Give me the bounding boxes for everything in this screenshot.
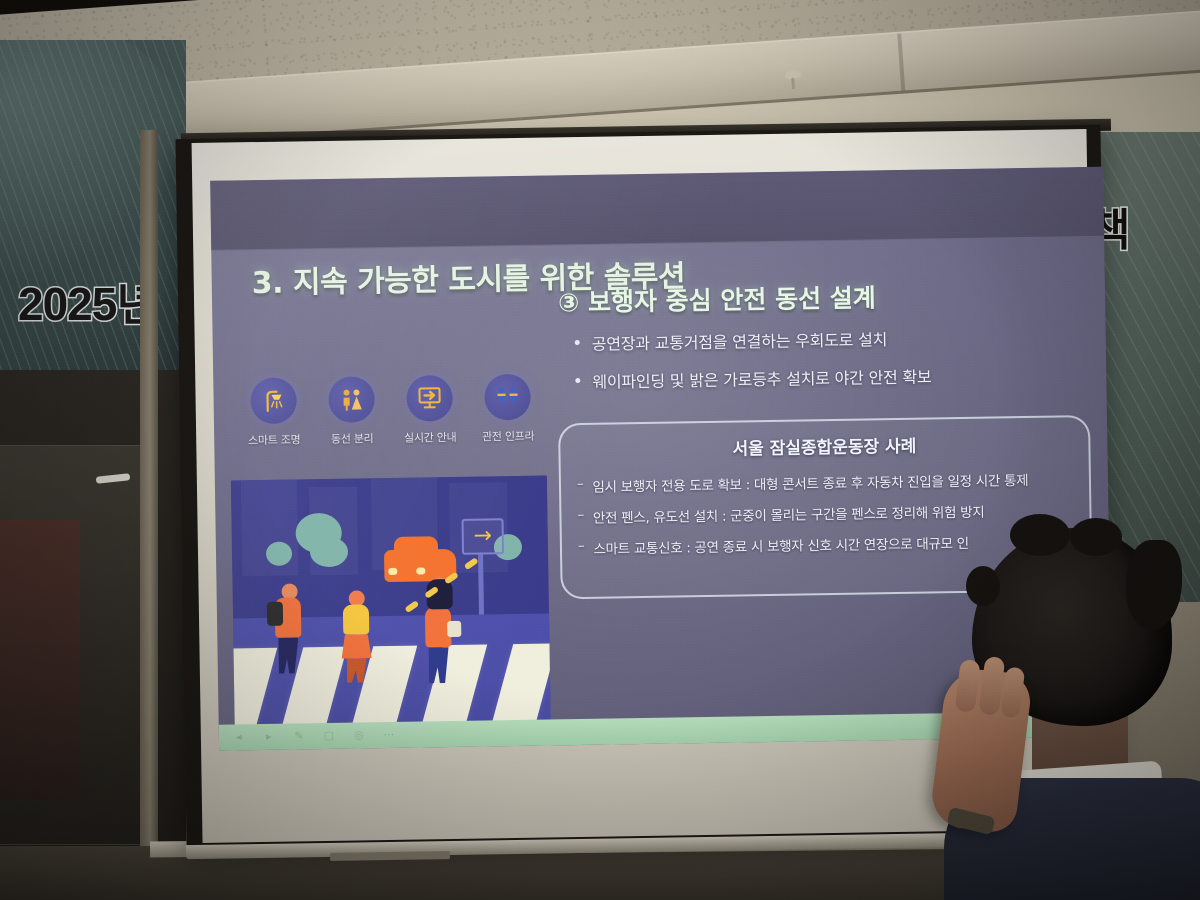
bullet-dot-icon (575, 340, 580, 345)
bullet-item: 웨이파인딩 및 밝은 가로등추 설치로 야간 안전 확보 (575, 361, 1095, 393)
glass-poster-reflection (0, 520, 80, 800)
bullet-text: 공연장과 교통거점을 연결하는 우회도로 설치 (592, 326, 888, 355)
spectator-infrastructure-icon (484, 374, 531, 421)
sign-arrow-glyph: → (473, 525, 492, 547)
arrow-sign-icon: → (461, 518, 504, 555)
bullet-item: 공연장과 교통거점을 연결하는 우회도로 설치 (575, 323, 1095, 355)
icon-cell-spectator-infra[interactable]: 관전 인프라 (475, 374, 540, 445)
camera-button[interactable]: ▢ (321, 727, 337, 743)
next-slide-button[interactable]: ▸ (261, 728, 277, 744)
zoom-button[interactable]: ◎ (351, 726, 367, 742)
window-mullion (140, 130, 158, 900)
hair-tuft (1010, 514, 1070, 556)
dash-marker: – (577, 476, 584, 496)
icon-label: 동선 분리 (320, 430, 384, 447)
icon-cell-smart-lighting[interactable]: 스마트 조명 (241, 377, 306, 448)
slide-sub-heading: ③ 보행자 중심 안전 동선 설계 (558, 278, 876, 319)
two-people-icon (328, 376, 375, 423)
streetlight-icon (250, 377, 297, 424)
dash-marker: – (578, 538, 585, 558)
icon-label: 실시간 안내 (398, 429, 462, 446)
dash-marker: – (577, 507, 584, 527)
arrow-sign-screen-icon (406, 375, 453, 422)
audience-member (940, 520, 1200, 900)
bullet-list: 공연장과 교통거점을 연결하는 우회도로 설치 웨이파인딩 및 밝은 가로등추 … (575, 323, 1096, 407)
pen-annotation-button[interactable]: ✎ (291, 727, 307, 743)
bullet-text: 웨이파인딩 및 밝은 가로등추 설치로 야간 안전 확보 (592, 363, 931, 392)
pedestrian-icon (343, 590, 372, 682)
icon-label: 관전 인프라 (476, 428, 540, 445)
icon-cell-realtime-guidance[interactable]: 실시간 안내 (397, 375, 462, 446)
banner-year-text: 2025년 (18, 268, 158, 334)
hair-tuft (966, 566, 1000, 606)
bullet-dot-icon (575, 378, 580, 383)
hair-tuft (1070, 518, 1122, 556)
previous-slide-button[interactable]: ◂ (231, 728, 247, 744)
case-item-text: 임시 보행자 전용 도로 확보 : 대형 콘서트 종료 후 자동차 진입을 일정… (592, 469, 1028, 496)
icon-cell-flow-separation[interactable]: 동선 분리 (319, 376, 384, 447)
valance-seam (897, 34, 905, 91)
night-crosswalk-illustration: → (231, 476, 551, 739)
feature-icon-row: 스마트 조명 동선 분리 (241, 374, 540, 449)
case-study-title: 서울 잠실종합운동장 사례 (560, 429, 1088, 462)
case-item-text: 안전 펜스, 유도선 설치 : 군중이 몰리는 구간을 펜스로 정리해 위험 방… (593, 501, 985, 527)
icon-label: 스마트 조명 (242, 431, 306, 448)
guide-line-dashes (396, 560, 487, 617)
slide-title-band (210, 167, 1104, 251)
photo-scene: 2025년 책 3. 지속 가능한 도시를 위한 솔루션 (0, 0, 1200, 900)
pedestrian-icon (274, 583, 301, 673)
presenter-toolbar[interactable]: ◂ ▸ ✎ ▢ ◎ ⋯ (231, 726, 397, 745)
case-item-text: 스마트 교통신호 : 공연 종료 시 보행자 신호 시간 연장으로 대규모 인 (593, 532, 969, 558)
more-options-button[interactable]: ⋯ (381, 726, 397, 742)
hair-tuft (1126, 540, 1182, 630)
case-study-item: – 임시 보행자 전용 도로 확보 : 대형 콘서트 종료 후 자동차 진입을 … (577, 468, 1089, 496)
